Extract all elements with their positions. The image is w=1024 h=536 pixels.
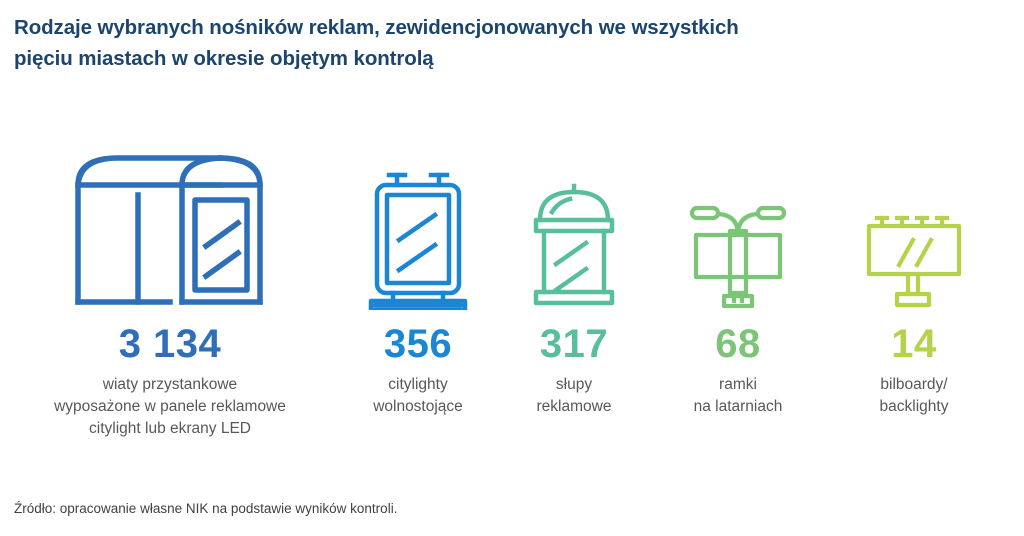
metric-label: citylighty wolnostojące — [373, 374, 463, 418]
title-line-2: pięciu miastach w okresie objętym kontro… — [14, 43, 894, 74]
icon-container — [70, 140, 270, 310]
icon-container — [859, 140, 969, 310]
metric-value: 3 134 — [119, 324, 222, 364]
metric-column-billboard: 14 bilboardy/ backlighty — [824, 140, 1004, 418]
advertising-column-icon — [524, 180, 624, 310]
metric-label-line-1: ramki — [694, 374, 783, 396]
metric-label-line-1: citylighty — [373, 374, 463, 396]
citylight-panel-icon — [363, 165, 473, 310]
metric-label-line-2: na latarniach — [694, 396, 783, 418]
metric-column-citylight: 356 citylighty wolnostojące — [340, 140, 496, 418]
metric-value: 317 — [540, 324, 608, 364]
metric-column-advertising-column: 317 słupy reklamowe — [496, 140, 652, 418]
metric-label: słupy reklamowe — [537, 374, 612, 418]
metric-label-line-2: wyposażone w panele reklamowe — [54, 396, 286, 418]
source-note: Źródło: opracowanie własne NIK na podsta… — [14, 500, 397, 518]
metric-value: 14 — [891, 324, 937, 364]
billboard-icon — [859, 210, 969, 310]
metrics-row: 3 134 wiaty przystankowe wyposażone w pa… — [0, 140, 1024, 440]
metric-label-line-3: citylight lub ekrany LED — [54, 418, 286, 440]
bus-shelter-icon — [70, 150, 270, 310]
metric-label: bilboardy/ backlighty — [880, 374, 949, 418]
icon-container — [682, 140, 794, 310]
infographic-root: Rodzaje wybranych nośników reklam, zewid… — [0, 0, 1024, 536]
metric-label-line-1: wiaty przystankowe — [54, 374, 286, 396]
metric-value: 356 — [384, 324, 452, 364]
metric-label-line-2: reklamowe — [537, 396, 612, 418]
metric-label: wiaty przystankowe wyposażone w panele r… — [54, 374, 286, 440]
icon-container — [363, 140, 473, 310]
metric-value: 68 — [715, 324, 761, 364]
metric-label: ramki na latarniach — [694, 374, 783, 418]
metric-column-bus-shelter: 3 134 wiaty przystankowe wyposażone w pa… — [0, 140, 340, 440]
icon-container — [524, 140, 624, 310]
metric-label-line-1: słupy — [537, 374, 612, 396]
page-title: Rodzaje wybranych nośników reklam, zewid… — [14, 12, 894, 74]
lamppost-frames-icon — [682, 195, 794, 310]
metric-label-line-2: backlighty — [880, 396, 949, 418]
metric-column-lamppost-frames: 68 ramki na latarniach — [652, 140, 824, 418]
title-line-1: Rodzaje wybranych nośników reklam, zewid… — [14, 12, 894, 43]
metric-label-line-1: bilboardy/ — [880, 374, 949, 396]
metric-label-line-2: wolnostojące — [373, 396, 463, 418]
